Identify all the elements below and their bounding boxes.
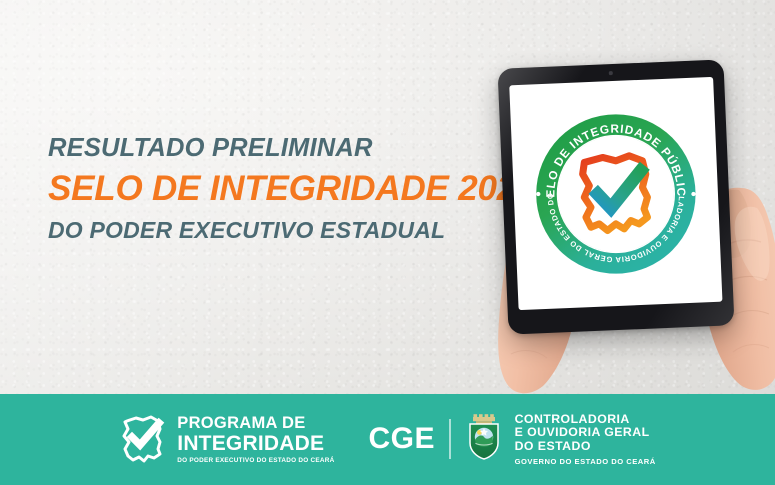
- ceara-coat-of-arms-icon: [464, 413, 504, 466]
- cge-divider: [449, 419, 451, 459]
- poster-canvas: RESULTADO PRELIMINAR SELO DE INTEGRIDADE…: [0, 0, 775, 485]
- tablet-scene: SELO DE INTEGRIDADE PÚBLICA CONTROLADORI…: [455, 0, 775, 394]
- footer-bar: PROGRAMA DE INTEGRIDADE DO PODER EXECUTI…: [0, 394, 775, 485]
- cge-line-2: E OUVIDORIA GERAL: [515, 426, 656, 440]
- cge-logo: CGE: [368, 413, 655, 467]
- programa-line-2: INTEGRIDADE: [177, 433, 334, 454]
- cge-line-3: DO ESTADO: [515, 440, 656, 454]
- cge-subline: GOVERNO DO ESTADO DO CEARÁ: [515, 458, 656, 467]
- integrity-seal: SELO DE INTEGRIDADE PÚBLICA CONTROLADORI…: [533, 111, 699, 277]
- tablet-device: SELO DE INTEGRIDADE PÚBLICA CONTROLADORI…: [498, 59, 735, 334]
- headline-line-3: DO PODER EXECUTIVO ESTADUAL: [48, 219, 508, 242]
- cge-line-1: CONTROLADORIA: [515, 413, 656, 427]
- tablet-screen: SELO DE INTEGRIDADE PÚBLICA CONTROLADORI…: [509, 77, 722, 310]
- cge-wordmark: CGE: [368, 422, 435, 456]
- headline-block: RESULTADO PRELIMINAR SELO DE INTEGRIDADE…: [48, 136, 508, 242]
- headline-line-2: SELO DE INTEGRIDADE 2025: [48, 171, 508, 206]
- tablet-camera-icon: [609, 71, 613, 75]
- ceara-outline-check-icon: [119, 411, 167, 468]
- programa-line-3: DO PODER EXECUTIVO DO ESTADO DO CEARÁ: [177, 458, 334, 464]
- programa-integridade-logo: PROGRAMA DE INTEGRIDADE DO PODER EXECUTI…: [119, 411, 334, 468]
- headline-line-1: RESULTADO PRELIMINAR: [48, 136, 508, 162]
- programa-line-1: PROGRAMA DE: [177, 415, 334, 432]
